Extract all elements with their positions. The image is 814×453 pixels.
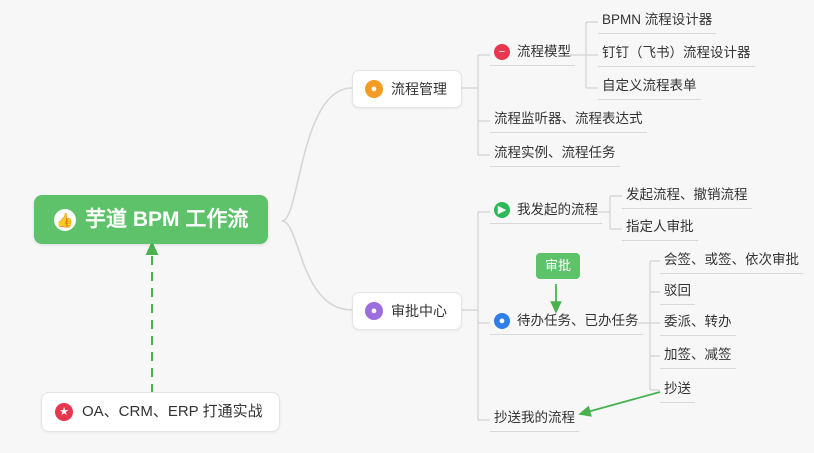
- node-listener-expression[interactable]: 流程监听器、流程表达式: [490, 107, 647, 133]
- node-add-remove-sign[interactable]: 加签、减签: [660, 343, 736, 369]
- branch-label-liuchengguanli: 流程管理: [391, 81, 447, 98]
- tag-label-shenpi: 审批: [545, 258, 571, 273]
- minus-circle-icon: −: [494, 44, 510, 60]
- node-cc-to-me-flow[interactable]: 抄送我的流程: [490, 406, 579, 432]
- node-my-initiated-flow[interactable]: ▶ 我发起的流程: [490, 198, 602, 224]
- node-label-countersign: 会签、或签、依次审批: [664, 252, 799, 268]
- chevron-circle-icon: ▶: [494, 202, 510, 218]
- node-label-delegate-transfer: 委派、转办: [664, 314, 732, 330]
- node-countersign[interactable]: 会签、或签、依次审批: [660, 248, 803, 274]
- arrow-chaosong-to-flow: [580, 392, 660, 414]
- node-label-reject: 驳回: [664, 283, 691, 299]
- thumbs-up-icon: 👍: [54, 209, 76, 231]
- node-instance-task[interactable]: 流程实例、流程任务: [490, 141, 620, 167]
- node-custom-form[interactable]: 自定义流程表单: [598, 74, 701, 100]
- star-circle-icon: ★: [55, 403, 73, 421]
- node-assign-approver[interactable]: 指定人审批: [622, 215, 698, 241]
- node-cc[interactable]: 抄送: [660, 377, 695, 403]
- branch-label-shenpizhongxin: 审批中心: [391, 303, 447, 320]
- node-delegate-transfer[interactable]: 委派、转办: [660, 310, 736, 336]
- tag-node-shenpi[interactable]: 审批: [536, 253, 580, 279]
- node-label-todo-done-task: 待办任务、已办任务: [517, 313, 639, 329]
- connector-root-to-shenpizhongxin: [282, 221, 352, 310]
- node-dingding-designer[interactable]: 钉钉（飞书）流程设计器: [598, 41, 755, 67]
- root-node[interactable]: 👍 芋道 BPM 工作流: [34, 195, 268, 244]
- location-pin-icon: ●: [365, 80, 383, 98]
- node-label-assign-approver: 指定人审批: [626, 219, 694, 235]
- node-label-cc: 抄送: [664, 381, 691, 397]
- node-label-liuchengmoxing: 流程模型: [517, 44, 571, 60]
- node-label-listener-expression: 流程监听器、流程表达式: [494, 111, 643, 127]
- node-todo-done-task[interactable]: ● 待办任务、已办任务: [490, 309, 643, 335]
- connector-root-to-liuchengguanli: [282, 88, 352, 221]
- mindmap-canvas: 👍 芋道 BPM 工作流 ● 流程管理 − 流程模型 BPMN 流程设计器 钉钉…: [0, 0, 814, 453]
- node-reject[interactable]: 驳回: [660, 279, 695, 305]
- node-liuchengmoxing[interactable]: − 流程模型: [490, 40, 575, 66]
- chat-bubble-icon: ●: [365, 302, 383, 320]
- node-label-custom-form: 自定义流程表单: [602, 78, 697, 94]
- root-node-label: 芋道 BPM 工作流: [85, 207, 248, 232]
- info-circle-icon: ●: [494, 313, 510, 329]
- branch-node-liuchengguanli[interactable]: ● 流程管理: [352, 70, 462, 108]
- node-label-instance-task: 流程实例、流程任务: [494, 145, 616, 161]
- legend-node-label: OA、CRM、ERP 打通实战: [82, 403, 263, 421]
- node-start-cancel-flow[interactable]: 发起流程、撤销流程: [622, 183, 752, 209]
- node-label-add-remove-sign: 加签、减签: [664, 347, 732, 363]
- legend-node-integration[interactable]: ★ OA、CRM、ERP 打通实战: [41, 392, 280, 432]
- branch-node-shenpizhongxin[interactable]: ● 审批中心: [352, 292, 462, 330]
- node-bpmn-designer[interactable]: BPMN 流程设计器: [598, 8, 716, 34]
- node-label-start-cancel-flow: 发起流程、撤销流程: [626, 187, 748, 203]
- node-label-cc-to-me-flow: 抄送我的流程: [494, 410, 575, 426]
- node-label-bpmn-designer: BPMN 流程设计器: [602, 12, 712, 28]
- node-label-my-initiated-flow: 我发起的流程: [517, 202, 598, 218]
- node-label-dingding-designer: 钉钉（飞书）流程设计器: [602, 45, 751, 61]
